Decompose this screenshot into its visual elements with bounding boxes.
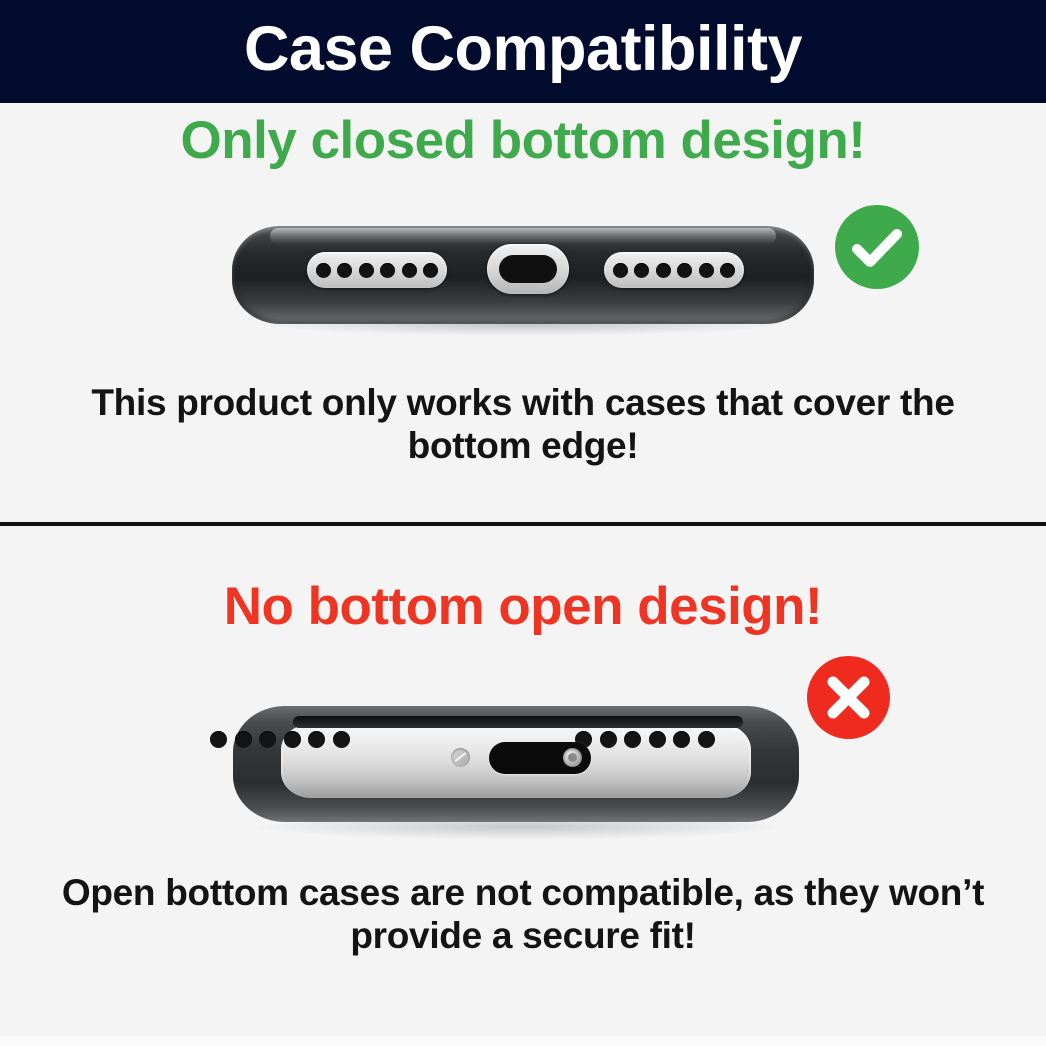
section-divider	[0, 522, 1046, 526]
case-compatibility-infographic: Case Compatibility Only closed bottom de…	[0, 0, 1046, 1046]
speaker-grille-left-icon	[307, 252, 447, 288]
screw-hole-icon	[563, 748, 582, 767]
compatible-heading: Only closed bottom design!	[0, 112, 1046, 170]
page-title: Case Compatibility	[0, 6, 1046, 92]
closed-case-illustration	[0, 200, 1046, 350]
speaker-holes-right-icon	[575, 731, 715, 748]
speaker-grille-right-icon	[604, 252, 744, 288]
incompatible-caption: Open bottom cases are not compatible, as…	[40, 871, 1006, 957]
speaker-holes-left-icon	[210, 731, 350, 748]
case-gap-line	[293, 716, 743, 728]
charging-port-cutout-icon	[487, 244, 569, 294]
incompatible-heading: No bottom open design!	[0, 578, 1046, 636]
compatible-caption: This product only works with cases that …	[60, 381, 986, 467]
bottom-edge-strip	[0, 1036, 1046, 1046]
microphone-hole-icon	[451, 748, 470, 767]
